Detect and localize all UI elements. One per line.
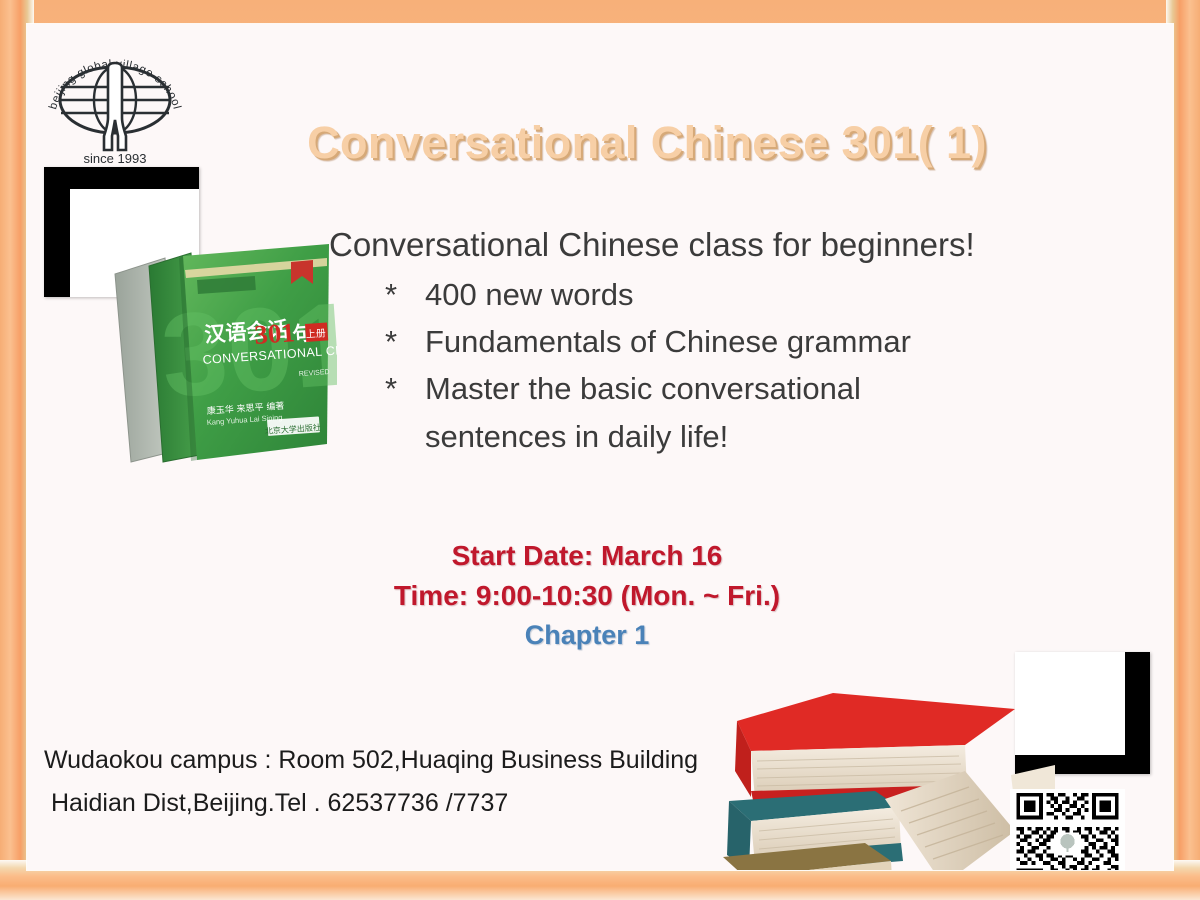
logo-since-text: since 1993 — [84, 151, 147, 166]
bullet-asterisk: * — [385, 318, 425, 365]
bullet-asterisk: * — [385, 365, 425, 459]
book-stack-illustration — [715, 679, 1055, 870]
list-item: * Fundamentals of Chinese grammar — [385, 318, 1107, 365]
list-item-label: Master the basic conversational — [425, 371, 861, 406]
qr-code[interactable] — [1010, 789, 1125, 870]
bracket-vertical-bar — [44, 167, 70, 297]
list-item: * Master the basic conversational senten… — [385, 365, 1107, 459]
schedule-block: Start Date: March 16 Time: 9:00-10:30 (M… — [227, 536, 947, 651]
lead-line: Conversational Chinese class for beginne… — [327, 224, 1107, 265]
course-description: Conversational Chinese class for beginne… — [327, 224, 1107, 460]
list-item-label: 400 new words — [425, 271, 1107, 318]
chapter-line: Chapter 1 — [227, 620, 947, 651]
start-date-line: Start Date: March 16 — [227, 536, 947, 576]
bullet-asterisk: * — [385, 271, 425, 318]
poster-canvas: beijing global village school since 1993 — [0, 0, 1200, 900]
time-line: Time: 9:00-10:30 (Mon. ~ Fri.) — [227, 576, 947, 616]
list-item-label-line2: sentences in daily life! — [425, 413, 1107, 460]
textbook-cover-image: 301 汉语会话 301 句 上册 CONVERSATIONAL CHINESE… — [87, 222, 337, 487]
school-logo: beijing global village school since 1993 — [40, 32, 190, 167]
feature-list: * 400 new words * Fundamentals of Chines… — [327, 271, 1107, 459]
svg-text:301: 301 — [253, 317, 295, 350]
list-item-label: Fundamentals of Chinese grammar — [425, 318, 1107, 365]
poster-title: Conversational Chinese 301( 1) — [277, 117, 1017, 169]
bracket-vertical-bar — [1125, 652, 1150, 774]
list-item: * 400 new words — [385, 271, 1107, 318]
poster-inner-panel: beijing global village school since 1993 — [27, 24, 1173, 870]
svg-text:上册: 上册 — [305, 327, 326, 340]
